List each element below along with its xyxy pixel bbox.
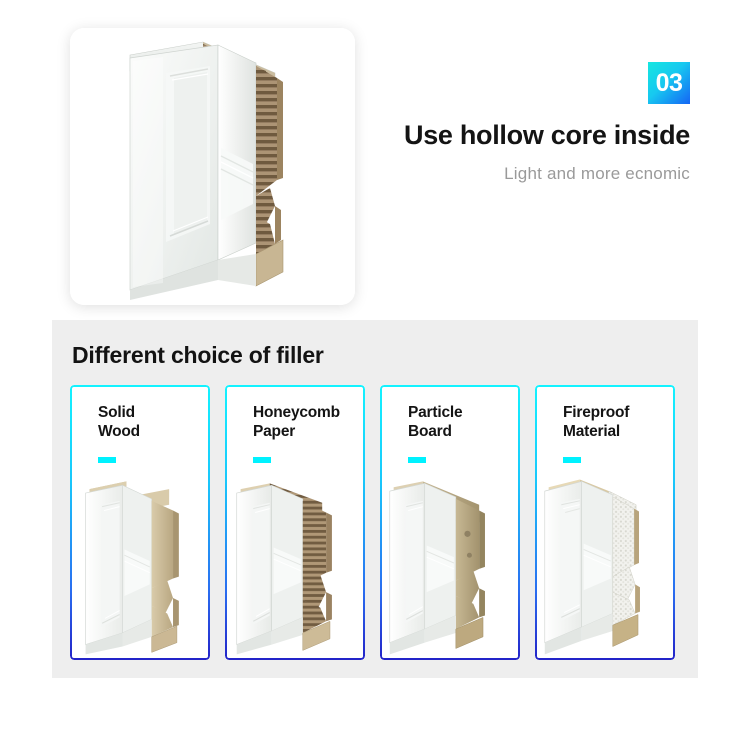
accent-dash <box>253 457 271 463</box>
card-label-line1: Particle <box>408 404 462 421</box>
honeycomb-paper-door-illustration <box>227 469 363 657</box>
accent-dash <box>98 457 116 463</box>
card-label-line1: Honeycomb <box>253 404 340 421</box>
hero-text-block: 03 Use hollow core inside Light and more… <box>390 62 690 184</box>
step-number-badge: 03 <box>648 62 690 104</box>
fireproof-material-door-illustration <box>537 469 673 657</box>
filler-card-solid-wood[interactable]: Solid Wood <box>70 385 210 660</box>
card-label-line1: Fireproof <box>563 404 629 421</box>
card-label: Solid Wood <box>98 403 140 441</box>
solid-wood-door-illustration <box>72 469 208 657</box>
card-surface: Particle Board <box>382 387 518 658</box>
card-surface: Fireproof Material <box>537 387 673 658</box>
accent-dash <box>563 457 581 463</box>
card-label: Particle Board <box>408 403 462 441</box>
card-label-line2: Material <box>563 423 620 440</box>
card-surface: Honeycomb Paper <box>227 387 363 658</box>
infographic-root: 03 Use hollow core inside Light and more… <box>0 0 750 750</box>
card-label-line2: Wood <box>98 423 140 440</box>
card-label-line1: Solid <box>98 404 135 421</box>
page-subtitle: Light and more ecnomic <box>390 164 690 184</box>
filler-card-fireproof-material[interactable]: Fireproof Material <box>535 385 675 660</box>
hollow-core-door-illustration <box>70 28 355 305</box>
card-label: Fireproof Material <box>563 403 629 441</box>
card-label-line2: Board <box>408 423 452 440</box>
card-label-line2: Paper <box>253 423 295 440</box>
card-label: Honeycomb Paper <box>253 403 340 441</box>
particle-board-door-illustration <box>382 469 518 657</box>
filler-cards-row: Solid Wood <box>70 385 675 660</box>
filler-card-particle-board[interactable]: Particle Board <box>380 385 520 660</box>
card-surface: Solid Wood <box>72 387 208 658</box>
panel-title: Different choice of filler <box>72 342 324 369</box>
filler-card-honeycomb-paper[interactable]: Honeycomb Paper <box>225 385 365 660</box>
accent-dash <box>408 457 426 463</box>
filler-options-panel: Different choice of filler Solid Wood <box>52 320 698 678</box>
page-title: Use hollow core inside <box>390 120 690 151</box>
hero-product-photo <box>70 28 355 305</box>
